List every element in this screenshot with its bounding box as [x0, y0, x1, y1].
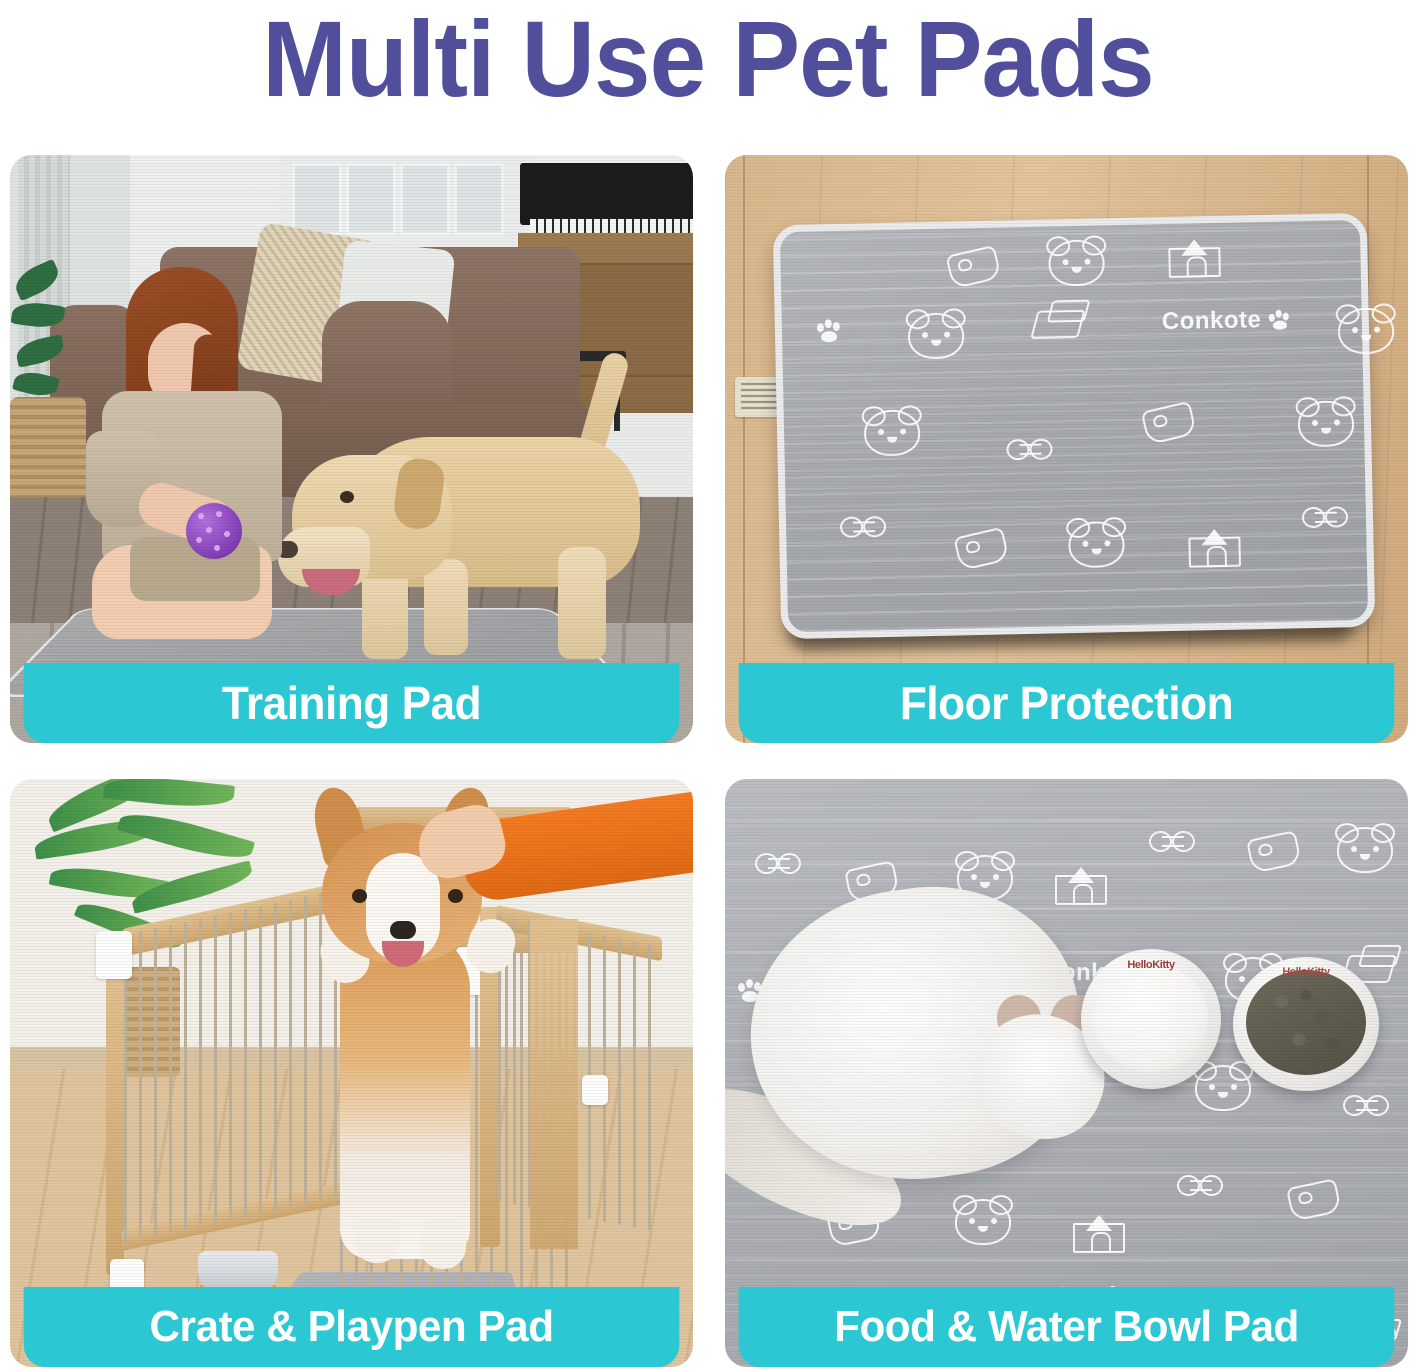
bowl-print: HelloKitty	[1127, 959, 1174, 971]
brand-wordmark: Conkote	[1162, 305, 1293, 336]
food-bowl-icon	[953, 527, 1009, 572]
dog-toy-ball	[186, 503, 242, 559]
card-label-crate-playpen-pad: Crate & Playpen Pad	[24, 1287, 680, 1367]
card-label-food-water-bowl-pad: Food & Water Bowl Pad	[739, 1287, 1395, 1367]
puppy-face-icon	[864, 409, 921, 456]
pet-bed-icon	[1033, 300, 1086, 339]
feature-card-crate-playpen-pad[interactable]: Crate & Playpen Pad	[10, 779, 693, 1367]
photo-crate-playpen-pad	[10, 779, 693, 1367]
puppy-face-icon	[1048, 239, 1105, 286]
food-bowl: HelloKitty	[1233, 957, 1379, 1091]
bone-icon	[840, 516, 886, 534]
food-bowl-icon	[1141, 401, 1197, 446]
infographic-page: Multi Use Pet Pads	[0, 0, 1416, 1370]
page-title: Multi Use Pet Pads	[42, 0, 1373, 122]
puppy-face-icon	[1068, 521, 1125, 568]
puppy-face-icon	[908, 312, 965, 359]
card-label-floor-protection: Floor Protection	[739, 663, 1395, 743]
feature-card-floor-protection[interactable]: Conkote Floor Protection	[725, 155, 1408, 743]
water-bowl: HelloKitty	[1081, 949, 1221, 1089]
photo-food-water-bowl-pad: Conkote Conkote HelloKitty	[725, 779, 1408, 1367]
pet-pad-product: Conkote	[773, 213, 1376, 639]
brand-name: Conkote	[1162, 306, 1262, 336]
card-label-training-pad: Training Pad	[24, 663, 680, 743]
photo-training-pad	[10, 155, 693, 743]
bone-icon	[1302, 506, 1348, 524]
puppy-face-icon	[1298, 400, 1355, 447]
feature-card-training-pad[interactable]: Training Pad	[10, 155, 693, 743]
food-bowl-icon	[945, 245, 1001, 290]
bone-icon	[1006, 438, 1052, 456]
dog-house-icon	[1168, 233, 1221, 278]
dog-house-icon	[1188, 523, 1241, 568]
paw-print-icon	[1268, 309, 1292, 330]
feature-card-grid: Training Pad	[10, 155, 1408, 1367]
feature-card-food-water-bowl-pad[interactable]: Conkote Conkote HelloKitty	[725, 779, 1408, 1367]
photo-floor-protection: Conkote	[725, 155, 1408, 743]
bowl-print: HelloKitty	[1282, 966, 1329, 978]
